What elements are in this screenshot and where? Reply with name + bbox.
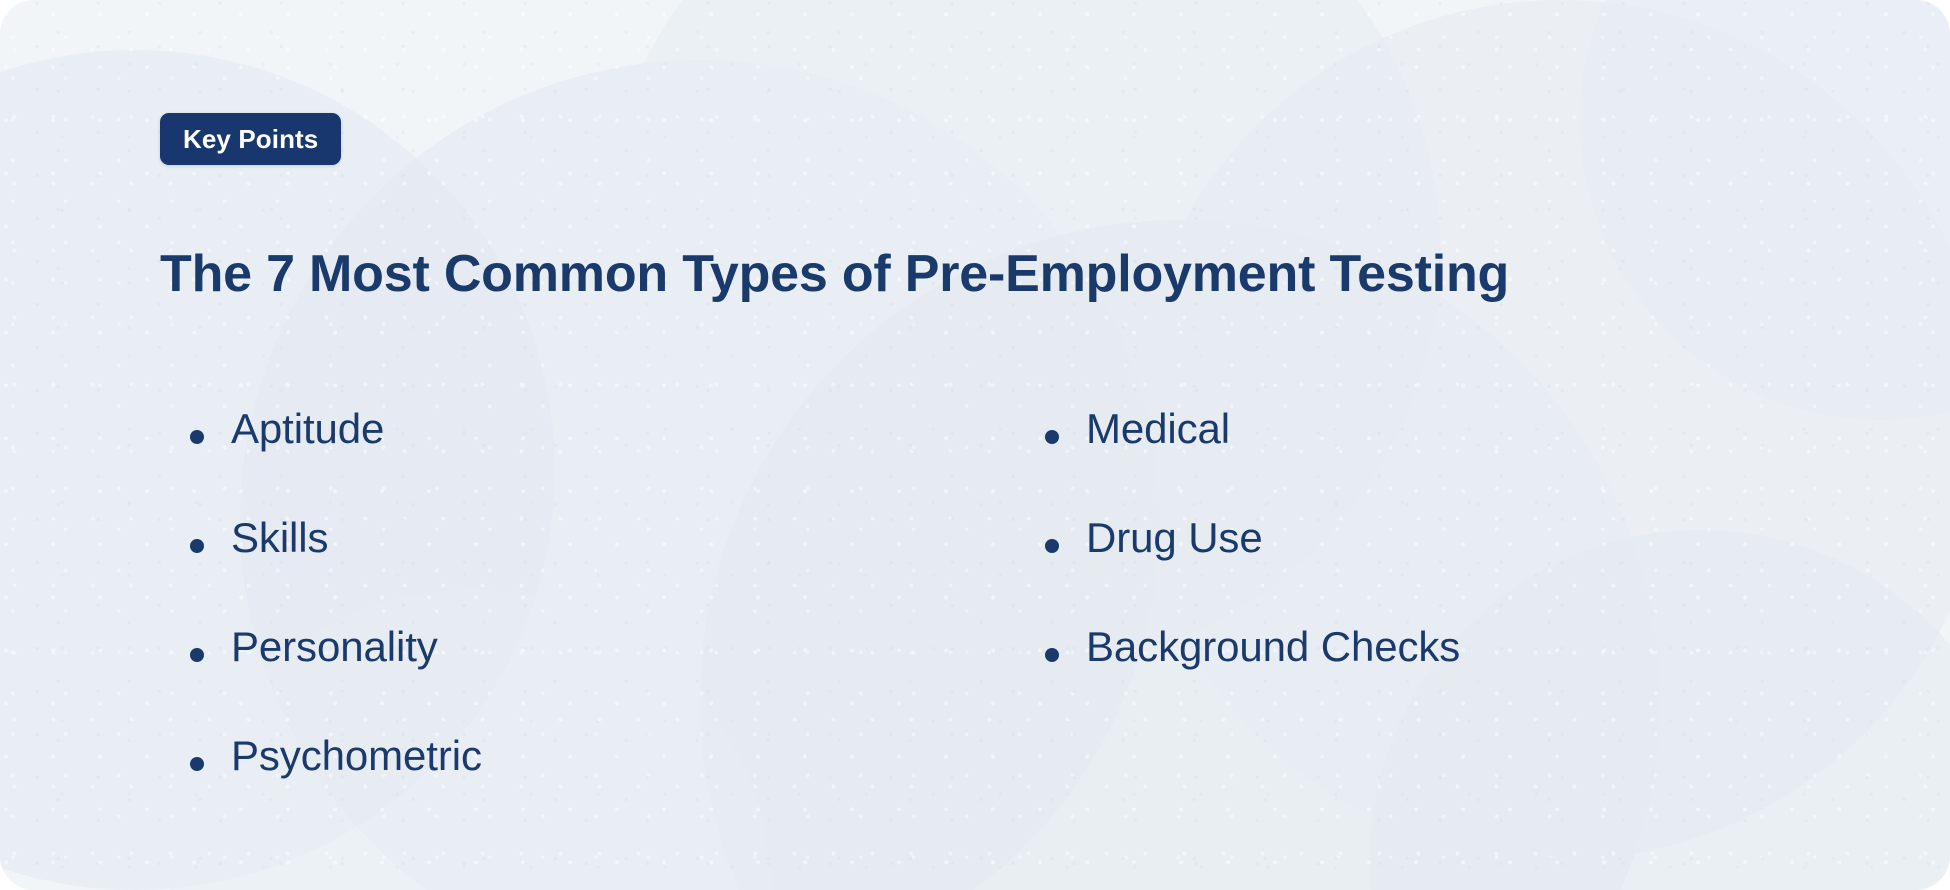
list-item-label: Medical	[1086, 408, 1230, 450]
list-item-label: Aptitude	[231, 408, 384, 450]
list-item: Aptitude	[190, 408, 482, 517]
card-content: Key Points The 7 Most Common Types of Pr…	[0, 0, 1950, 890]
list-item-label: Drug Use	[1086, 517, 1263, 559]
key-points-card: Key Points The 7 Most Common Types of Pr…	[0, 0, 1950, 890]
list-item-label: Background Checks	[1086, 626, 1460, 668]
bullet-dot-icon	[190, 757, 204, 771]
list-item: Background Checks	[1045, 626, 1460, 735]
bullet-dot-icon	[1045, 539, 1059, 553]
bullet-dot-icon	[1045, 430, 1059, 444]
bullet-dot-icon	[1045, 648, 1059, 662]
key-points-badge: Key Points	[160, 113, 341, 165]
list-item-label: Personality	[231, 626, 438, 668]
bullet-dot-icon	[190, 648, 204, 662]
page-title: The 7 Most Common Types of Pre-Employmen…	[160, 245, 1509, 303]
list-item: Skills	[190, 517, 482, 626]
list-item-label: Psychometric	[231, 735, 482, 777]
list-item: Medical	[1045, 408, 1460, 517]
list-item-label: Skills	[231, 517, 328, 559]
key-points-badge-label: Key Points	[183, 126, 318, 152]
bullet-list-right: Medical Drug Use Background Checks	[1045, 408, 1460, 735]
list-item: Psychometric	[190, 735, 482, 844]
bullet-dot-icon	[190, 430, 204, 444]
list-item: Drug Use	[1045, 517, 1460, 626]
bullet-dot-icon	[190, 539, 204, 553]
list-item: Personality	[190, 626, 482, 735]
bullet-list-left: Aptitude Skills Personality Psychometric	[190, 408, 482, 844]
